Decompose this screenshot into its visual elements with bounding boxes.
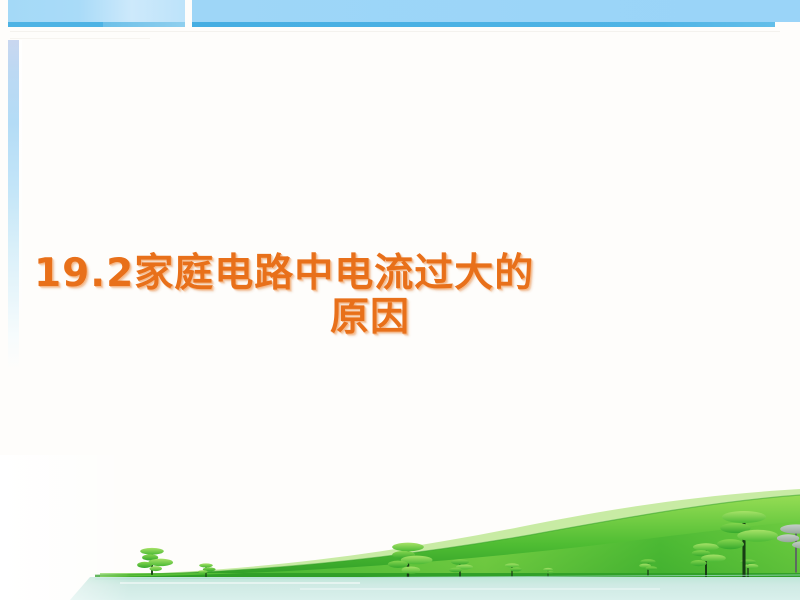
top-decorative-band — [0, 0, 800, 30]
left-decorative-strip-edge — [19, 40, 22, 340]
slide-title: 19.2家庭电路中电流过大的 原因 — [30, 252, 770, 340]
top-band-rule-left-fade — [103, 22, 185, 27]
slide-title-line-1: 19.2家庭电路中电流过大的 — [30, 252, 770, 296]
top-band-segment-right — [192, 0, 800, 22]
presentation-slide: 19.2家庭电路中电流过大的 原因 — [0, 0, 800, 600]
slide-title-line-2: 原因 — [30, 296, 770, 340]
water-highlight — [300, 588, 660, 590]
top-band-rule-left — [8, 22, 103, 27]
water-highlight — [120, 582, 360, 584]
landscape-left-fade — [0, 455, 130, 600]
tree-icon — [137, 548, 173, 575]
frame-divider-line-short — [10, 38, 150, 39]
top-band-rule-right — [192, 22, 775, 27]
landscape-illustration — [0, 455, 800, 600]
frame-divider-line — [10, 31, 780, 32]
left-decorative-strip — [8, 40, 19, 370]
top-band-segment-left — [8, 0, 185, 22]
